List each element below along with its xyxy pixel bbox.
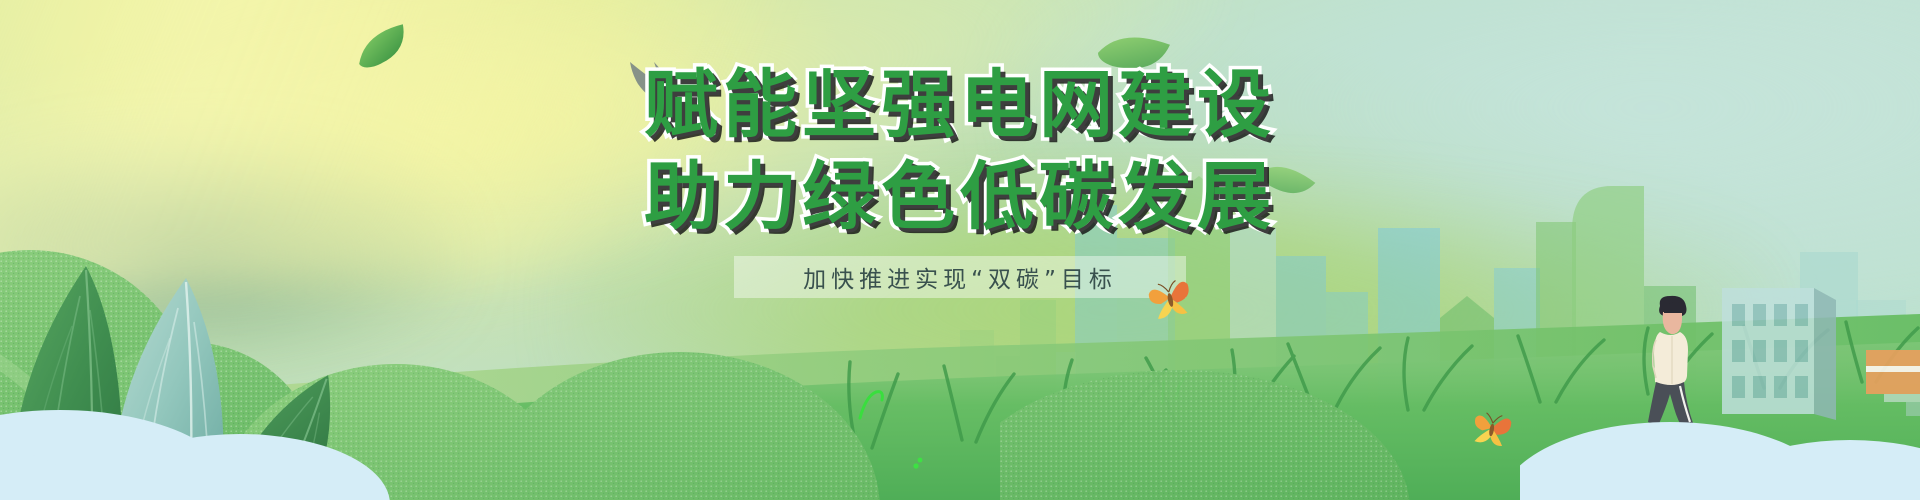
apartment-building: [1722, 288, 1836, 420]
title-line-1: 赋能坚强电网建设: [0, 62, 1920, 148]
butterfly-2: [1470, 408, 1514, 448]
cloud-group-right: [1520, 404, 1920, 500]
cloud-3: [1520, 422, 1920, 500]
subtitle-text: 加快推进实现“双碳”目标: [803, 260, 1117, 294]
butterfly-1: [1146, 276, 1194, 320]
cloud-1: [0, 410, 390, 500]
person-face: [1663, 312, 1682, 334]
cloud-group-left: [0, 400, 560, 500]
title-line-2: 助力绿色低碳发展: [0, 154, 1920, 240]
person-sweater: [1654, 332, 1688, 385]
bush-5: [1000, 370, 1410, 500]
eco-power-grid-banner: 赋能坚强电网建设 助力绿色低碳发展 加快推进实现“双碳”目标: [0, 0, 1920, 500]
title-block: 赋能坚强电网建设 助力绿色低碳发展: [0, 62, 1920, 240]
subtitle-bar: 加快推进实现“双碳”目标: [734, 256, 1186, 298]
